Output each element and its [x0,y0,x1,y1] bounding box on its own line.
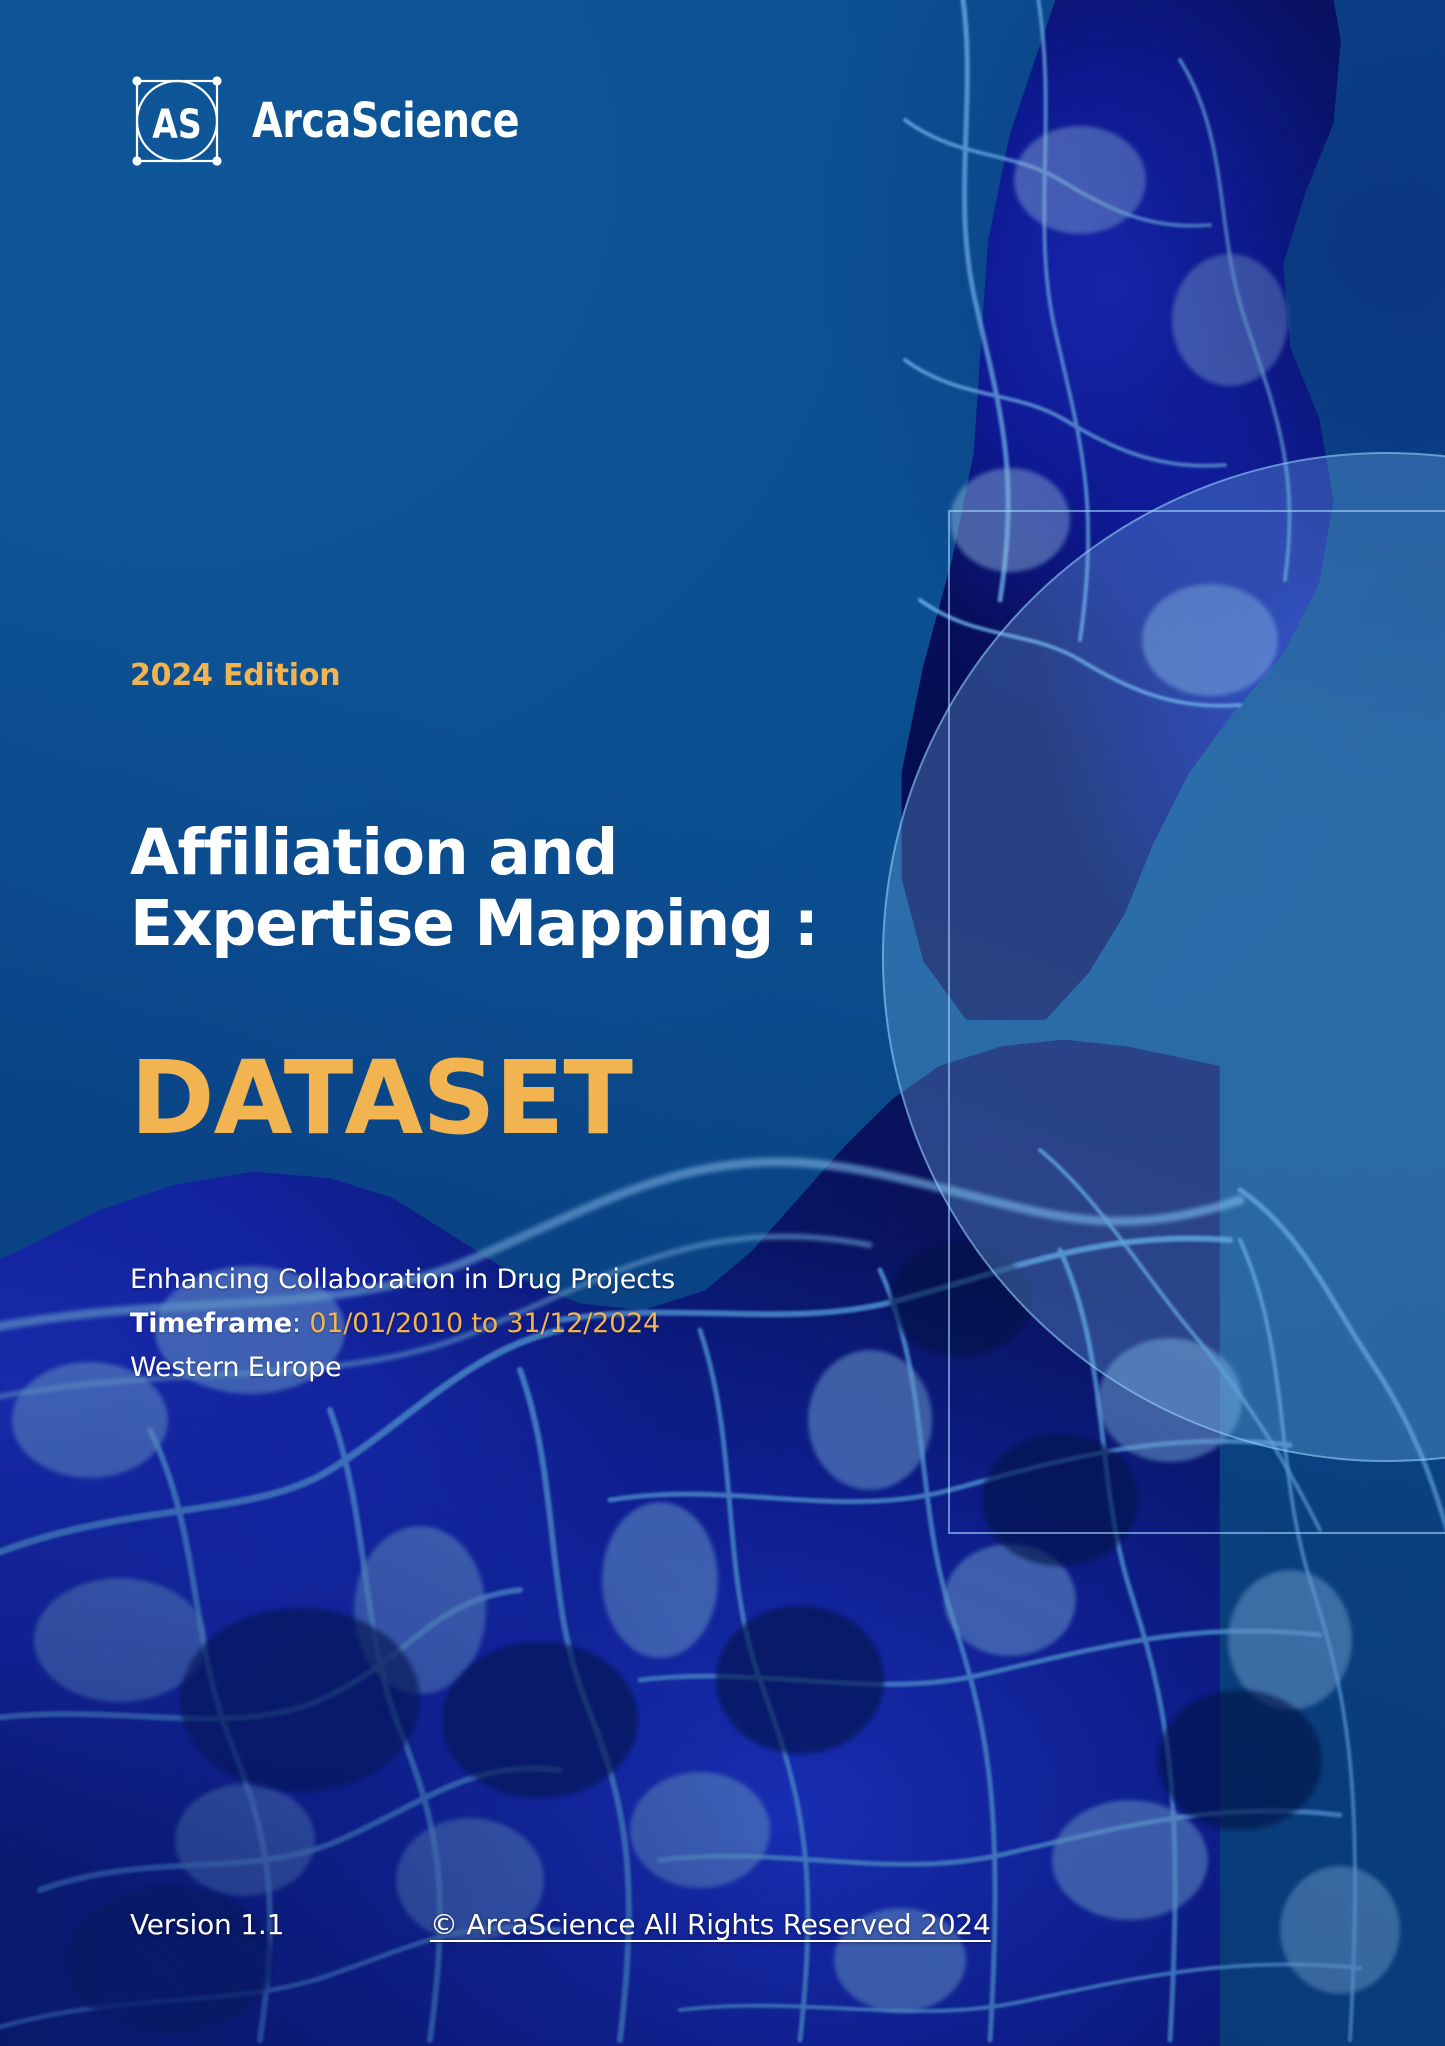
subtitle-text: Enhancing Collaboration in Drug Projects [130,1258,950,1302]
arcascience-logo-icon: AS [128,72,226,170]
timeframe-separator: : [292,1308,309,1339]
timeframe-value: 01/01/2010 to 31/12/2024 [309,1308,660,1339]
timeframe-row: Timeframe: 01/01/2010 to 31/12/2024 [130,1302,950,1346]
svg-text:AS: AS [152,102,201,149]
region-text: Western Europe [130,1346,950,1390]
timeframe-label: Timeframe [130,1308,292,1339]
document-cover-page: AS ArcaScience 2024 Edition Affiliation … [0,0,1445,2046]
copyright-link[interactable]: © ArcaScience All Rights Reserved 2024 [430,1908,991,1941]
cover-content: AS ArcaScience 2024 Edition Affiliation … [0,0,1445,2046]
title-line-2: Expertise Mapping : [130,889,910,960]
headline-dataset: DATASET [130,1048,632,1150]
version-label: Version 1.1 [130,1908,284,1941]
edition-label: 2024 Edition [130,658,340,693]
brand-wordmark: ArcaScience [252,93,519,149]
cover-details: Enhancing Collaboration in Drug Projects… [130,1258,950,1390]
brand-logo: AS ArcaScience [128,72,542,170]
page-title: Affiliation and Expertise Mapping : [130,818,910,959]
title-line-1: Affiliation and [130,818,910,889]
